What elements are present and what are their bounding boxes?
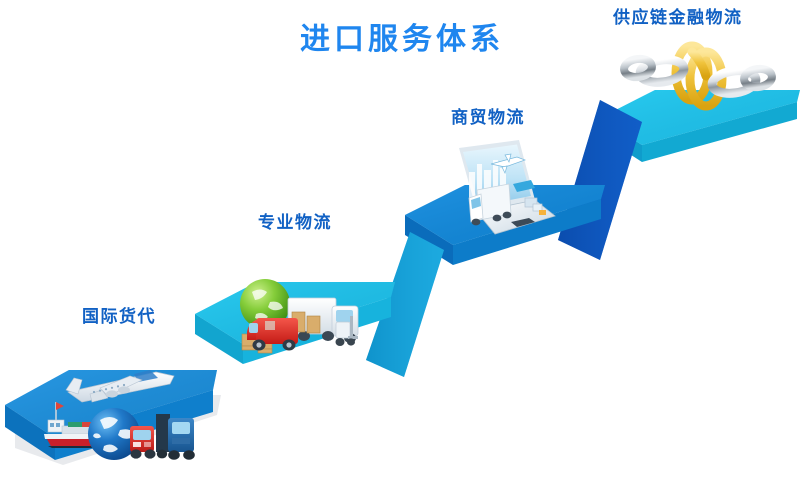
step-4-label: 供应链金融物流: [613, 3, 743, 28]
freight-forwarding-icon: [38, 368, 208, 478]
page-title: 进口服务体系: [300, 14, 504, 58]
professional-logistics-icon: [232, 272, 372, 372]
blue-truck-shape: [156, 414, 195, 460]
import-service-system-infographic: 进口服务体系: [0, 0, 800, 500]
step-3-label: 商贸物流: [451, 103, 525, 128]
step-1-label: 国际货代: [82, 302, 156, 327]
red-truck-shape: [130, 426, 156, 459]
trade-logistics-icon: [447, 138, 562, 253]
airplane-shape: [66, 370, 174, 402]
step-2-label: 专业物流: [258, 208, 332, 233]
